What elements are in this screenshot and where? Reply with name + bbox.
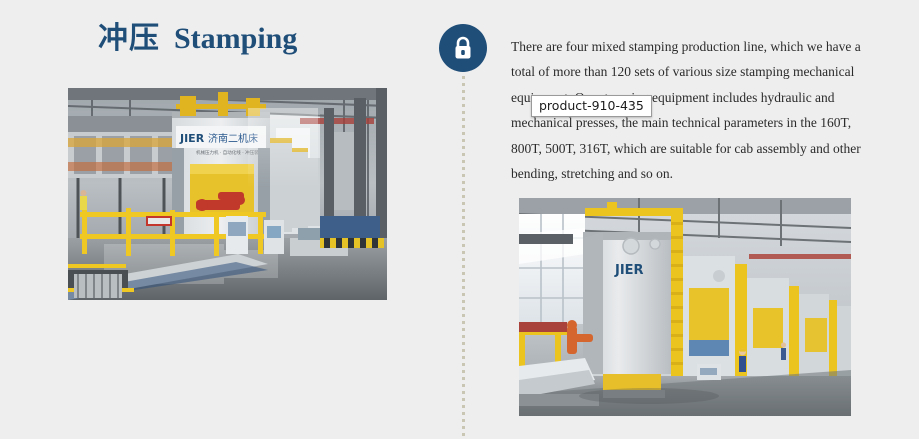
page-title-chinese: 冲压: [98, 21, 160, 56]
page-title: 冲压Stamping: [98, 24, 297, 54]
lock-icon: [451, 35, 475, 61]
svg-text:JIER: JIER: [179, 132, 205, 145]
page-title-english: Stamping: [174, 22, 297, 55]
press-line-overview-photo: JIER: [519, 198, 851, 416]
lock-badge: [439, 24, 487, 72]
right-column: There are four mixed stamping production…: [477, 0, 919, 439]
stamping-production-line-photo: JIER 济南二机床 机械压力机 · 自动化线 · 冲压装备: [68, 88, 387, 300]
left-column: 冲压Stamping: [0, 0, 425, 439]
dotted-divider-line: [462, 62, 465, 439]
product-tooltip: product-910-435: [531, 95, 652, 117]
svg-text:JIER: JIER: [614, 263, 644, 278]
center-divider: [425, 0, 477, 439]
product-section-page: 冲压Stamping: [0, 0, 919, 439]
